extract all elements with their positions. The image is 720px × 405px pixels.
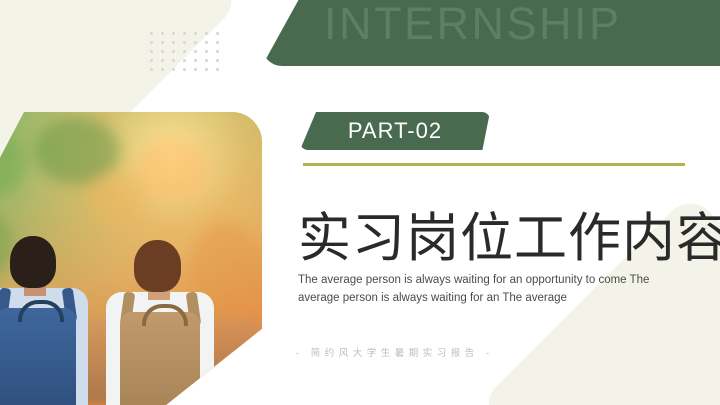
grid-dot: [150, 68, 153, 71]
page-title: 实习岗位工作内容: [298, 208, 720, 270]
bokeh-blob: [134, 138, 210, 200]
grid-dot: [194, 50, 197, 53]
banner-watermark-text: INTERNSHIP: [324, 0, 622, 52]
grid-dot: [216, 41, 219, 44]
grid-dot: [216, 32, 219, 35]
grid-dot: [161, 41, 164, 44]
grid-dot: [150, 41, 153, 44]
grid-dot: [172, 41, 175, 44]
grid-dot: [194, 41, 197, 44]
header-banner-clip: INTERNSHIP: [262, 0, 720, 66]
grid-dot: [150, 59, 153, 62]
grid-dot: [194, 68, 197, 71]
student-left-backpack: [0, 308, 76, 405]
grid-dot: [183, 32, 186, 35]
grid-dot: [161, 59, 164, 62]
grid-dot: [172, 32, 175, 35]
grid-dot: [194, 32, 197, 35]
student-right-head: [134, 240, 181, 292]
grid-dot: [183, 41, 186, 44]
grid-dot: [216, 59, 219, 62]
title-rule-divider: [303, 163, 685, 166]
grid-dot: [205, 50, 208, 53]
grid-dot: [161, 68, 164, 71]
grid-dot: [150, 32, 153, 35]
hero-photo-image: [0, 112, 262, 405]
subtitle-paragraph: The average person is always waiting for…: [298, 271, 670, 307]
footer-note: - 简约风大学生暑期实习报告 -: [296, 345, 494, 359]
grid-dot: [194, 59, 197, 62]
grid-dot: [205, 41, 208, 44]
grid-dot: [205, 59, 208, 62]
student-left-head: [10, 236, 56, 288]
grid-dot: [172, 68, 175, 71]
grid-dot: [205, 32, 208, 35]
grid-dot: [161, 50, 164, 53]
dot-grid-decoration: [150, 32, 227, 77]
grid-dot: [216, 68, 219, 71]
grid-dot: [150, 50, 153, 53]
grid-dot: [172, 50, 175, 53]
grid-dot: [205, 68, 208, 71]
grid-dot: [183, 59, 186, 62]
grid-dot: [183, 68, 186, 71]
grid-dot: [216, 50, 219, 53]
grid-dot: [161, 32, 164, 35]
bokeh-blob: [88, 172, 146, 224]
grid-dot: [172, 59, 175, 62]
part-badge-label: PART-02: [300, 112, 490, 150]
hero-photo: [0, 112, 262, 405]
slide-canvas: INTERNSHIP: [0, 0, 720, 405]
grid-dot: [183, 50, 186, 53]
